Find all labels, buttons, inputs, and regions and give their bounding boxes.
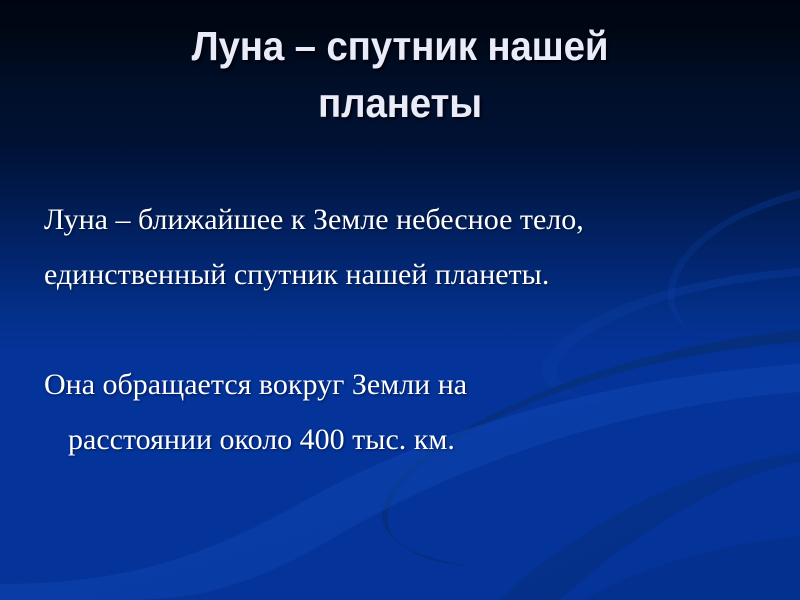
body-paragraph-2: Она обращается вокруг Земли на расстояни…: [44, 357, 768, 467]
body-line: единственный спутник нашей планеты.: [44, 247, 768, 302]
swoosh-ribbon-6: [584, 536, 800, 600]
slide-title-line-1: Луна – спутник нашей: [80, 18, 719, 75]
body-line: Луна – ближайшее к Земле небесное тело,: [44, 192, 768, 247]
body-paragraph-1: Луна – ближайшее к Земле небесное тело, …: [44, 192, 768, 302]
presentation-slide: Луна – спутник нашей планеты Луна – ближ…: [0, 0, 800, 600]
swoosh-ribbon-4: [500, 452, 800, 600]
paragraph-spacer: [44, 302, 768, 357]
slide-title-line-2: планеты: [80, 75, 719, 132]
slide-body: Луна – ближайшее к Земле небесное тело, …: [44, 192, 768, 467]
body-line: Она обращается вокруг Земли на: [44, 357, 768, 412]
body-line-continuation: расстоянии около 400 тыс. км.: [44, 412, 768, 467]
slide-title: Луна – спутник нашей планеты: [60, 18, 740, 132]
